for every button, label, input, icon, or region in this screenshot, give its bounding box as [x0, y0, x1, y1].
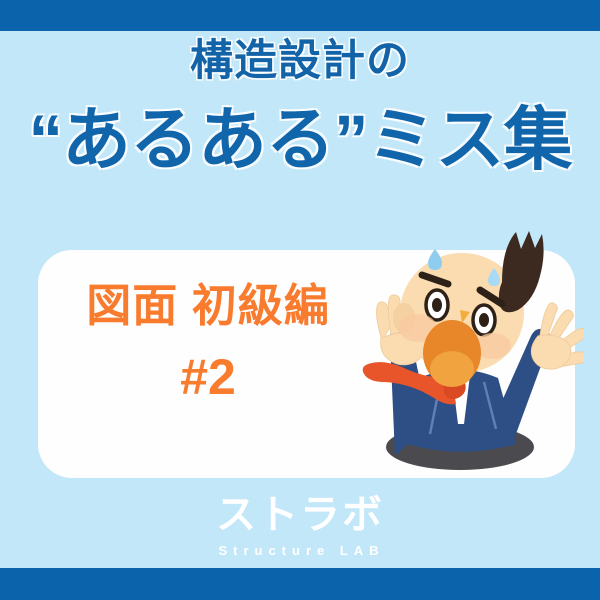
bottom-brand-bar — [0, 568, 600, 600]
logo-mark-text: ストラボ — [0, 495, 600, 535]
panicking-businessman-illustration — [352, 228, 584, 478]
tongue — [430, 351, 474, 387]
right-hand — [531, 303, 584, 369]
hair-tuft — [499, 231, 544, 312]
sweat-drop-large — [428, 249, 442, 270]
episode-title: 図面 初級編 — [38, 283, 378, 328]
top-brand-bar — [0, 0, 600, 31]
headline-subtitle: 構造設計の — [0, 40, 600, 83]
logo-subtext: Structure LAB — [3, 544, 600, 557]
headline-title: “あるある”ミス集 — [0, 105, 600, 174]
brand-logo: ストラボ Structure LAB — [0, 495, 600, 557]
episode-number: #2 — [38, 352, 378, 402]
episode-block: 図面 初級編 #2 — [38, 283, 378, 402]
headline-block: 構造設計の “あるある”ミス集 — [0, 40, 600, 174]
thumbnail-canvas: 構造設計の “あるある”ミス集 図面 初級編 #2 — [0, 0, 600, 600]
eye-left-pupil — [432, 298, 442, 312]
eye-right-pupil — [479, 313, 489, 327]
